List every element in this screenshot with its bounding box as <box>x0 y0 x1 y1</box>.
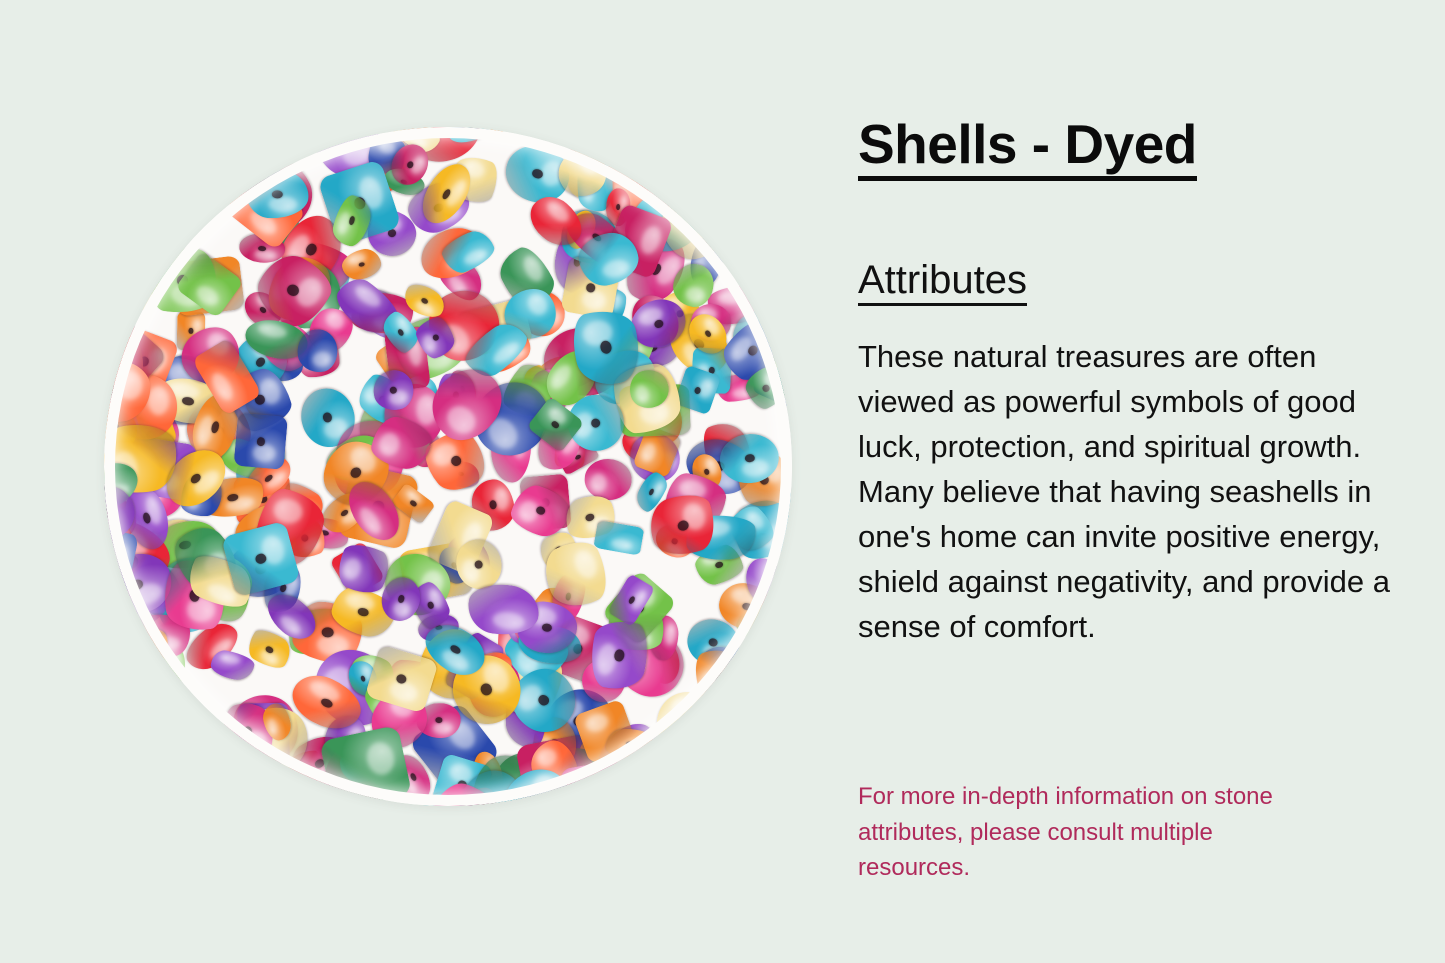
disclaimer-text: For more in-depth information on stone a… <box>858 779 1328 886</box>
page-title: Shells - Dyed <box>858 116 1197 181</box>
shell-bead <box>605 728 653 759</box>
shell-bead <box>234 413 288 470</box>
bead-bowl-image <box>104 127 792 806</box>
bead-cluster <box>104 127 792 806</box>
product-image-panel <box>0 0 840 963</box>
attributes-body-text: These natural treasures are often viewed… <box>858 334 1398 649</box>
product-info-panel: Shells - Dyed Attributes These natural t… <box>858 0 1403 963</box>
product-card: Shells - Dyed Attributes These natural t… <box>0 0 1445 963</box>
attributes-heading: Attributes <box>858 258 1027 306</box>
shell-bead <box>593 520 644 556</box>
shell-bead <box>583 458 632 501</box>
